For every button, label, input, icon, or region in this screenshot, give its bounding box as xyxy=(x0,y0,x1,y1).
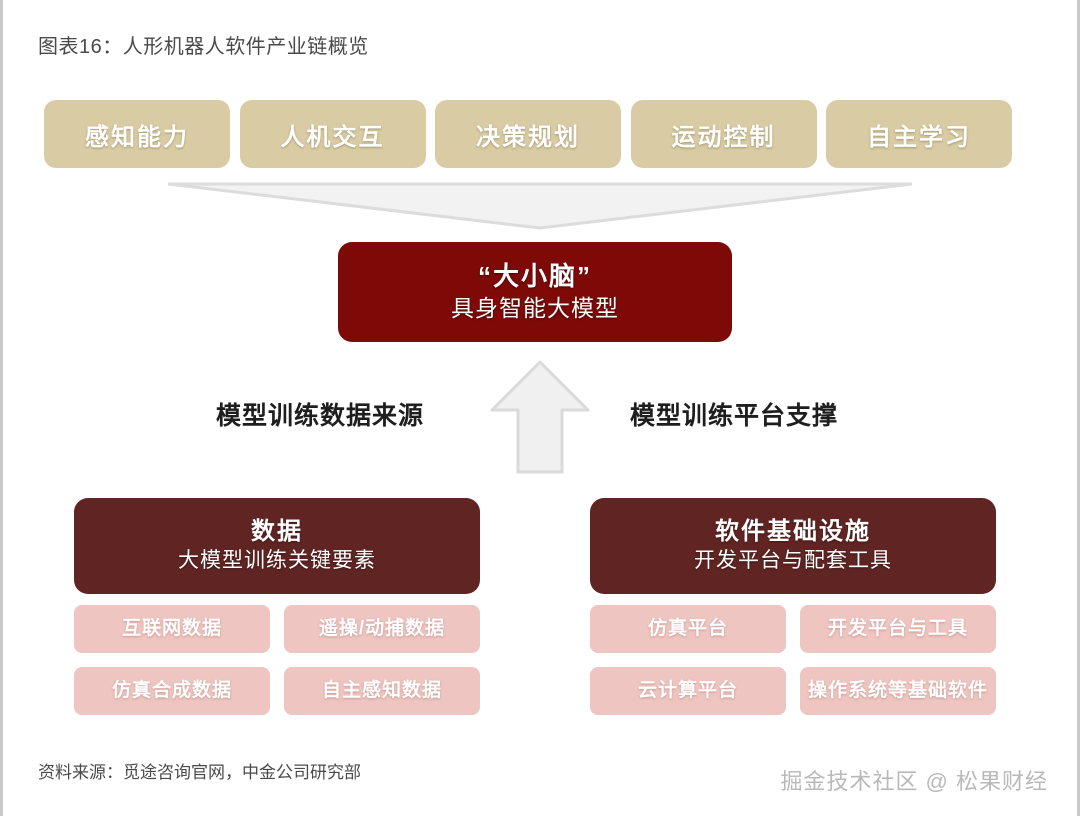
core-model-box: “大小脑” 具身智能大模型 xyxy=(338,242,732,342)
pillar-data-header: 数据 大模型训练关键要素 xyxy=(74,498,480,594)
funnel-down-shape xyxy=(168,182,912,230)
pillar-software-header: 软件基础设施 开发平台与配套工具 xyxy=(590,498,996,594)
pillar-subtitle: 大模型训练关键要素 xyxy=(178,548,376,574)
pillar-subtitle: 开发平台与配套工具 xyxy=(694,548,892,574)
pillar-data-chip-grid: 互联网数据 遥操/动捕数据 仿真合成数据 自主感知数据 xyxy=(74,605,480,715)
chip-os-and-basic-software: 操作系统等基础软件 xyxy=(800,667,996,715)
pillar-software-chip-grid: 仿真平台 开发平台与工具 云计算平台 操作系统等基础软件 xyxy=(590,605,996,715)
capability-label: 决策规划 xyxy=(476,117,580,152)
branch-label-platform-support: 模型训练平台支撑 xyxy=(630,396,838,432)
figure-canvas: 图表16：人形机器人软件产业链概览 感知能力 人机交互 决策规划 运动控制 自主… xyxy=(0,0,1080,816)
chip-autonomous-perception-data: 自主感知数据 xyxy=(284,667,480,715)
chip-cloud-computing-platform: 云计算平台 xyxy=(590,667,786,715)
branch-label-data-source: 模型训练数据来源 xyxy=(216,396,424,432)
core-model-title: “大小脑” xyxy=(478,261,592,292)
pillar-software-infrastructure: 软件基础设施 开发平台与配套工具 仿真平台 开发平台与工具 云计算平台 操作系统… xyxy=(590,498,996,715)
pillar-title: 软件基础设施 xyxy=(715,518,871,547)
capability-label: 人机交互 xyxy=(281,117,385,152)
capability-box-autonomous-learning: 自主学习 xyxy=(826,100,1012,168)
arrow-up-icon xyxy=(488,358,592,476)
capability-box-decision-planning: 决策规划 xyxy=(435,100,621,168)
capability-box-human-machine-interaction: 人机交互 xyxy=(240,100,426,168)
chip-simulated-synthetic-data: 仿真合成数据 xyxy=(74,667,270,715)
chip-simulation-platform: 仿真平台 xyxy=(590,605,786,653)
capability-label: 自主学习 xyxy=(867,117,971,152)
chip-teleop-mocap-data: 遥操/动捕数据 xyxy=(284,605,480,653)
chip-internet-data: 互联网数据 xyxy=(74,605,270,653)
figure-title: 图表16：人形机器人软件产业链概览 xyxy=(38,30,369,59)
pillar-title: 数据 xyxy=(251,518,303,547)
source-note: 资料来源：觅途咨询官网，中金公司研究部 xyxy=(38,758,361,783)
page-edge-left-rule xyxy=(0,0,3,816)
core-model-subtitle: 具身智能大模型 xyxy=(451,294,619,323)
capability-label: 运动控制 xyxy=(672,117,776,152)
watermark-text: 掘金技术社区 @ 松果财经 xyxy=(780,764,1048,796)
capability-box-perception: 感知能力 xyxy=(44,100,230,168)
capability-row: 感知能力 人机交互 决策规划 运动控制 自主学习 xyxy=(44,100,1012,168)
capability-box-motion-control: 运动控制 xyxy=(631,100,817,168)
chip-dev-platform-and-tools: 开发平台与工具 xyxy=(800,605,996,653)
capability-label: 感知能力 xyxy=(85,117,189,152)
pillar-data: 数据 大模型训练关键要素 互联网数据 遥操/动捕数据 仿真合成数据 自主感知数据 xyxy=(74,498,480,715)
